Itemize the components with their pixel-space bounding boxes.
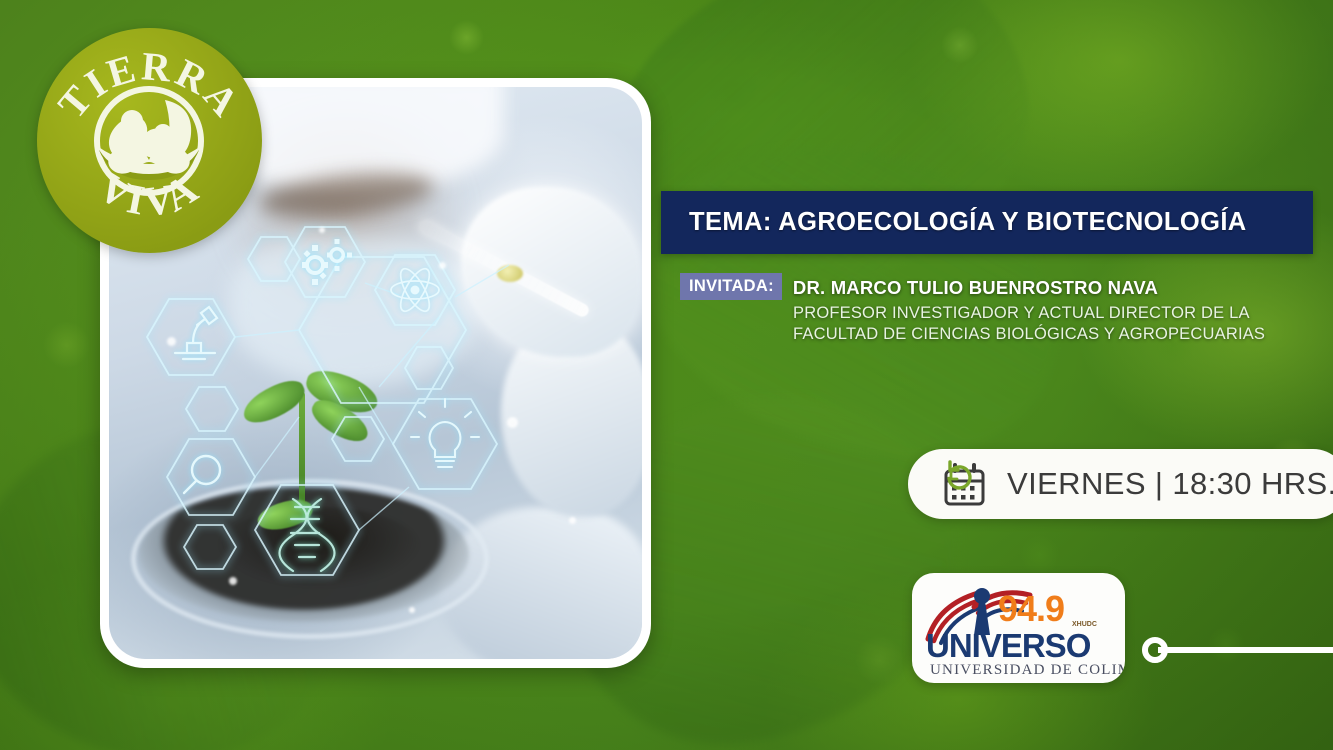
speaker-role: PROFESOR INVESTIGADOR Y ACTUAL DIRECTOR … [793,303,1320,345]
sparkle [167,337,176,346]
speaker-role-line-1: PROFESOR INVESTIGADOR Y ACTUAL DIRECTOR … [793,303,1320,324]
calendar-clock-icon [931,458,989,510]
poster-canvas: TIERRA VIVA TEMA: AGROECOLOGÍA Y BIOTECN… [0,0,1333,750]
station-wordmark: UNIVERSO [926,627,1091,664]
sparkle [569,517,576,524]
magnifier-icon [184,456,220,493]
microscope-icon [175,307,217,359]
speaker-block: INVITADA: DR. MARCO TULIO BUENROSTRO NAV… [680,273,1320,345]
sparkle [409,607,415,613]
speaker-name-row: INVITADA: DR. MARCO TULIO BUENROSTRO NAV… [680,273,1320,300]
page-title: TEMA: AGROECOLOGÍA Y BIOTECNOLOGÍA [689,208,1247,237]
connector-line [1140,637,1333,663]
gears-icon [302,239,352,285]
invitada-label-badge: INVITADA: [680,273,782,300]
sparkle [229,577,237,585]
lightbulb-icon [411,399,479,467]
schedule-text: VIERNES | 18:30 HRS. [1007,466,1333,502]
station-frequency: 94.9 [998,588,1064,629]
topic-title-bar: TEMA: AGROECOLOGÍA Y BIOTECNOLOGÍA [661,191,1313,254]
sparkle [439,262,446,269]
speaker-name: DR. MARCO TULIO BUENROSTRO NAVA [793,277,1158,299]
tierra-viva-emblem [97,89,201,193]
sparkle [319,227,325,233]
tierra-viva-logo: TIERRA VIVA [37,28,262,253]
universo-radio-logo: 94.9 XHUDC UNIVERSO UNIVERSIDAD DE COLIM… [912,573,1125,683]
sparkle [507,417,518,428]
speaker-role-line-2: FACULTAD DE CIENCIAS BIOLÓGICAS Y AGROPE… [793,324,1320,345]
tierra-viva-top-text: TIERRA [49,43,250,126]
station-tagline: UNIVERSIDAD DE COLIMA [930,662,1125,678]
schedule-pill: VIERNES | 18:30 HRS. [908,449,1333,519]
dna-helix-icon [280,499,335,571]
